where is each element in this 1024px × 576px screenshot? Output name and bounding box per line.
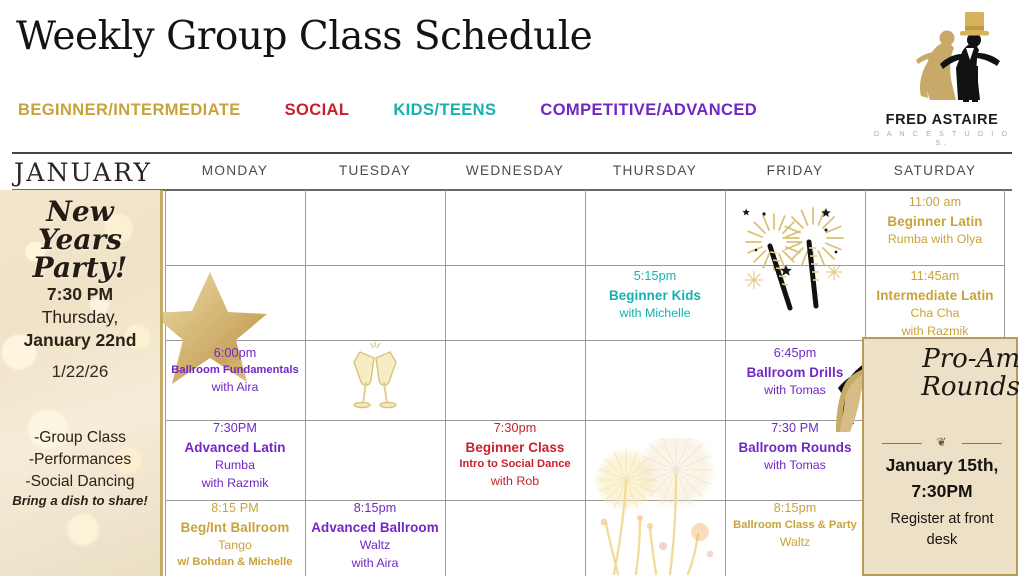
party-bullet-item: -Performances: [0, 449, 160, 471]
event-time: 7:30PM: [169, 420, 301, 438]
header-rule-top: [12, 152, 1012, 154]
event-title: Ballroom Class & Party: [729, 518, 861, 534]
event-instructor: with Razmik: [869, 323, 1001, 341]
event-title: Intermediate Latin: [869, 286, 1001, 305]
class-event-cell[interactable]: 5:15pmBeginner Kidswith Michelle: [585, 268, 725, 323]
class-event-cell[interactable]: 7:30pmBeginner ClassIntro to Social Danc…: [445, 420, 585, 490]
day-header-friday: FRIDAY: [725, 163, 865, 178]
proam-headline-line1: Pro-Am: [872, 345, 1020, 373]
grid-hline-1: [165, 265, 1005, 266]
event-instructor: with Rob: [449, 473, 581, 491]
proam-divider-ornament: ❦: [882, 435, 1002, 449]
new-years-party-panel: New Years Party! 7:30 PM Thursday, Janua…: [0, 190, 163, 576]
event-title: Beginner Latin: [869, 212, 1001, 231]
event-detail: Waltz: [309, 537, 441, 555]
event-detail: Rumba: [169, 457, 301, 475]
grid-vline-2: [445, 190, 446, 576]
pro-am-rounds-panel: Pro-Am Rounds ❦ January 15th, 7:30PM Reg…: [862, 337, 1018, 576]
event-title: Ballroom Rounds: [729, 438, 861, 457]
event-title: Beginner Class: [449, 438, 581, 457]
event-detail: with Tomas: [729, 457, 861, 475]
day-header-monday: MONDAY: [165, 163, 305, 178]
event-detail: with Tomas: [729, 382, 861, 400]
event-instructor: with Razmik: [169, 475, 301, 493]
party-headline-line1: New Years: [38, 195, 122, 256]
event-detail: Tango: [169, 537, 301, 555]
event-detail: Waltz: [729, 534, 861, 552]
day-header-wednesday: WEDNESDAY: [445, 163, 585, 178]
class-event-cell[interactable]: 6:00pmBallroom Fundamentalswith Aira: [165, 345, 305, 396]
event-time: 8:15 PM: [169, 500, 301, 518]
party-bullet-list: -Group Class -Performances -Social Danci…: [0, 427, 160, 493]
class-event-cell[interactable]: 11:00 amBeginner LatinRumba with Olya: [865, 194, 1005, 249]
party-headline: New Years Party!: [0, 198, 160, 282]
proam-time: 7:30PM: [868, 481, 1016, 502]
event-time: 8:15pm: [309, 500, 441, 518]
party-date-numeric: 1/22/26: [0, 362, 160, 382]
day-header-saturday: SATURDAY: [865, 163, 1005, 178]
event-time: 7:30 PM: [729, 420, 861, 438]
proam-register-note: Register at front desk: [874, 509, 1010, 551]
page-title: Weekly Group Class Schedule: [16, 14, 592, 59]
proam-headline-line2: Rounds: [872, 373, 1020, 401]
event-detail: Rumba with Olya: [869, 231, 1001, 249]
month-label: JANUARY: [14, 158, 152, 187]
party-time: 7:30 PM: [0, 284, 160, 305]
legend-item-kids-teens: KIDS/TEENS: [393, 101, 496, 120]
legend-item-beginner-intermediate: BEGINNER/INTERMEDIATE: [18, 101, 241, 120]
party-bullet-item: -Group Class: [0, 427, 160, 449]
party-headline-line2: Party!: [0, 254, 160, 282]
event-time: 6:00pm: [169, 345, 301, 363]
proam-date: January 15th,: [868, 455, 1016, 476]
dancing-couple-icon: [866, 8, 1018, 110]
weekly-class-schedule-flyer: Weekly Group Class Schedule BEGINNER/INT…: [0, 0, 1024, 576]
event-detail: with Aira: [169, 379, 301, 397]
party-note: Bring a dish to share!: [0, 493, 160, 508]
day-header-tuesday: TUESDAY: [305, 163, 445, 178]
legend-item-social: SOCIAL: [285, 101, 350, 120]
event-time: 7:30pm: [449, 420, 581, 438]
party-bullet-item: -Social Dancing: [0, 471, 160, 493]
party-date: January 22nd: [0, 330, 160, 351]
class-event-cell[interactable]: 11:45amIntermediate LatinCha Chawith Raz…: [865, 268, 1005, 340]
class-event-cell[interactable]: 8:15pmAdvanced BallroomWaltzwith Aira: [305, 500, 445, 572]
event-detail: with Michelle: [589, 305, 721, 323]
event-instructor: with Aira: [309, 555, 441, 573]
event-title: Advanced Ballroom: [309, 518, 441, 537]
event-time: 5:15pm: [589, 268, 721, 286]
day-header-thursday: THURSDAY: [585, 163, 725, 178]
event-title: Beg/Int Ballroom: [169, 518, 301, 537]
logo-brand-sub: D A N C E S T U D I O S.: [866, 129, 1018, 147]
proam-headline: Pro-Am Rounds: [872, 345, 1020, 401]
class-event-cell[interactable]: 7:30 PMBallroom Roundswith Tomas: [725, 420, 865, 475]
event-instructor: w/ Bohdan & Michelle: [169, 555, 301, 571]
class-event-cell[interactable]: 6:45pmBallroom Drillswith Tomas: [725, 345, 865, 400]
event-detail: Intro to Social Dance: [449, 457, 581, 473]
class-event-cell[interactable]: 8:15 PMBeg/Int BallroomTangow/ Bohdan & …: [165, 500, 305, 570]
fred-astaire-logo: FRED ASTAIRE D A N C E S T U D I O S.: [866, 8, 1018, 140]
event-time: 11:00 am: [869, 194, 1001, 212]
legend-item-competitive-advanced: COMPETITIVE/ADVANCED: [540, 101, 757, 120]
logo-brand-name: FRED ASTAIRE: [866, 112, 1018, 128]
event-time: 11:45am: [869, 268, 1001, 286]
event-title: Ballroom Drills: [729, 363, 861, 382]
event-title: Ballroom Fundamentals: [169, 363, 301, 379]
class-event-cell[interactable]: 7:30PMAdvanced LatinRumbawith Razmik: [165, 420, 305, 492]
category-legend: BEGINNER/INTERMEDIATE SOCIAL KIDS/TEENS …: [18, 101, 757, 120]
class-event-cell[interactable]: 8:15pmBallroom Class & PartyWaltz: [725, 500, 865, 551]
grid-vline-3: [585, 190, 586, 576]
event-title: Beginner Kids: [589, 286, 721, 305]
event-title: Advanced Latin: [169, 438, 301, 457]
event-time: 8:15pm: [729, 500, 861, 518]
event-detail: Cha Cha: [869, 305, 1001, 323]
event-time: 6:45pm: [729, 345, 861, 363]
party-weekday: Thursday,: [0, 307, 160, 328]
